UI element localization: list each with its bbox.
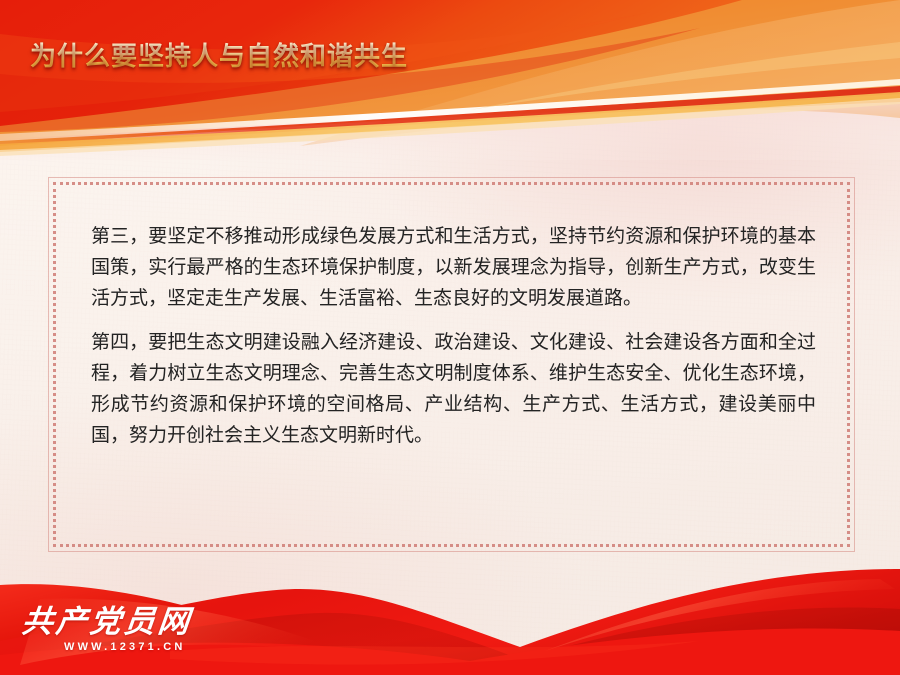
content-body: 第三，要坚定不移推动形成绿色发展方式和生活方式，坚持节约资源和保护环境的基本国策… (91, 221, 816, 451)
page-title: 为什么要坚持人与自然和谐共生 (30, 42, 408, 71)
site-logo: 共产党员网 WWW.12371.CN (22, 606, 232, 653)
paragraph-fourth: 第四，要把生态文明建设融入经济建设、政治建设、文化建设、社会建设各方面和全过程，… (91, 327, 816, 451)
logo-url: WWW.12371.CN (64, 641, 232, 653)
slide-canvas: 为什么要坚持人与自然和谐共生 第三，要坚定不移推动形成绿色发展方式和生活方式，坚… (0, 0, 900, 675)
content-frame-inner-border: 第三，要坚定不移推动形成绿色发展方式和生活方式，坚持节约资源和保护环境的基本国策… (53, 182, 850, 547)
header-ribbon-graphic (0, 0, 900, 160)
header-banner: 为什么要坚持人与自然和谐共生 (0, 0, 900, 160)
paragraph-third: 第三，要坚定不移推动形成绿色发展方式和生活方式，坚持节约资源和保护环境的基本国策… (91, 221, 816, 314)
content-frame: 第三，要坚定不移推动形成绿色发展方式和生活方式，坚持节约资源和保护环境的基本国策… (48, 177, 855, 552)
logo-wordmark: 共产党员网 (20, 606, 233, 637)
